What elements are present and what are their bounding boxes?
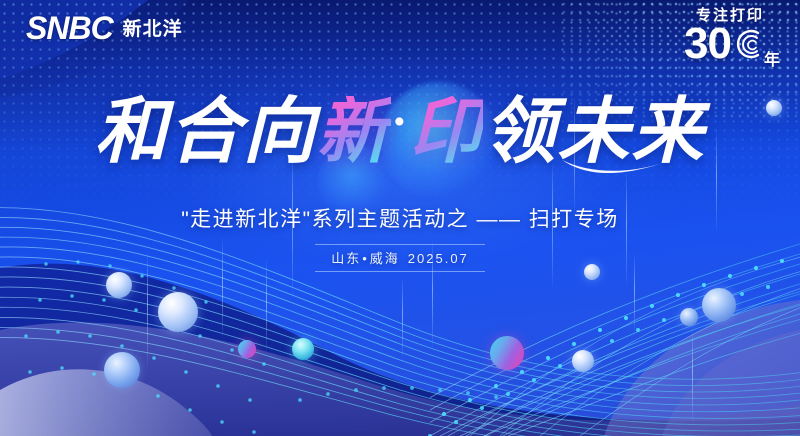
event-subtitle: "走进新北洋"系列主题活动之 —— 扫打专场: [0, 203, 800, 233]
dateline-date: 2025.07: [400, 251, 469, 266]
main-title-block: 和合向新·印领未来: [0, 96, 800, 168]
sphere-cyan-small: [292, 338, 314, 360]
snbc-wordmark: SNBC: [26, 12, 113, 44]
dateline-inner: 山东•威海2025.07: [315, 244, 485, 272]
sphere-pink-small: [238, 340, 256, 358]
event-banner: SNBC 新北洋 专注打印 30 年 和合向新·印领未来 "走进新北洋"系列主题…: [0, 0, 800, 436]
mesh-lines-left: [0, 208, 800, 436]
anniversary-number-row: 30 年: [678, 26, 782, 68]
title-char-2: 合: [169, 96, 243, 168]
title-char-4: 新: [317, 96, 391, 168]
sphere-left-low: [104, 352, 140, 388]
purple-arc-right-inner: [662, 330, 800, 436]
title-char-5: 印: [409, 96, 483, 168]
title-char-3: 向: [243, 96, 317, 168]
snbc-chinese-name: 新北洋: [123, 17, 183, 39]
title-char-1: 和: [95, 96, 169, 168]
spiral-swirl-icon: [730, 27, 764, 61]
purple-arc-right: [604, 300, 800, 436]
calligraphy-swash-icon: [560, 154, 668, 180]
sphere-right-large: [702, 288, 736, 322]
title-char-6: 领: [483, 96, 557, 168]
sphere-upper-left: [106, 272, 132, 298]
snbc-logo: SNBC 新北洋: [26, 12, 183, 44]
title-separator: ·: [391, 96, 410, 146]
sphere-mid-white: [572, 350, 594, 372]
mesh-dot-trails: [24, 259, 784, 436]
anniversary-unit: 年: [764, 53, 780, 69]
anniversary-badge: 专注打印 30 年: [678, 8, 782, 68]
sphere-left-large: [158, 292, 198, 332]
dateline-city: 威海: [370, 251, 400, 266]
event-dateline: 山东•威海2025.07: [0, 244, 800, 272]
sphere-pink-large: [490, 336, 524, 370]
sphere-right-small: [680, 308, 698, 326]
anniversary-number: 30: [684, 22, 731, 66]
dateline-separator: •: [361, 251, 370, 266]
dateline-province: 山东: [331, 251, 361, 266]
